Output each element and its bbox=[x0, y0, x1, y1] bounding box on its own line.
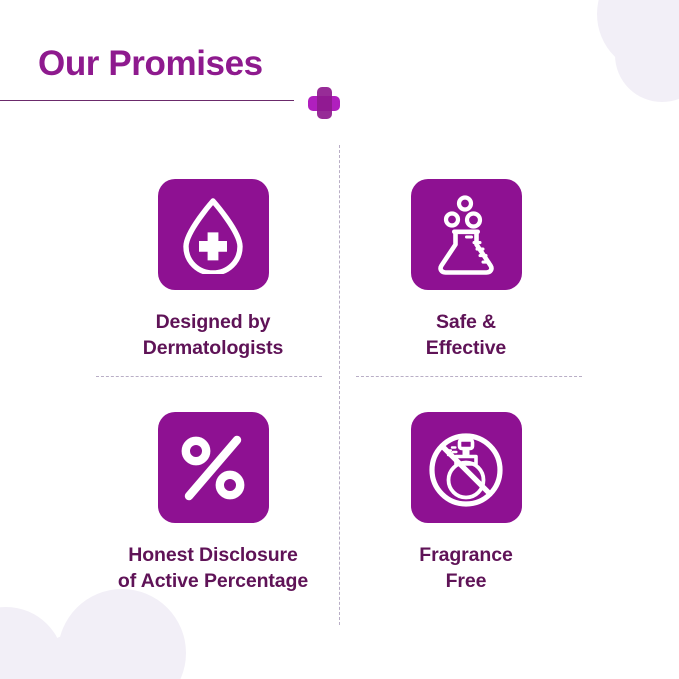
promises-grid: Designed by Dermatologists bbox=[0, 140, 679, 640]
promise-icon-tile bbox=[158, 412, 269, 523]
plus-icon-vertical-bar bbox=[317, 87, 332, 119]
promise-label: Fragrance Free bbox=[419, 543, 512, 594]
promise-label: Honest Disclosure of Active Percentage bbox=[118, 543, 308, 594]
page-title: Our Promises bbox=[38, 44, 263, 84]
promises-banner: Our Promises Designed by Dermatologists bbox=[0, 0, 679, 679]
promise-item-safe-and-effective: Safe & Effective bbox=[306, 179, 626, 361]
promise-icon-tile bbox=[158, 179, 269, 290]
promise-label: Safe & Effective bbox=[426, 310, 506, 361]
title-underline bbox=[0, 100, 294, 101]
promise-icon-tile bbox=[411, 412, 522, 523]
promise-icon-tile bbox=[411, 179, 522, 290]
divider-horizontal-right bbox=[356, 376, 582, 377]
droplet-plus-icon bbox=[176, 196, 250, 274]
promise-label: Designed by Dermatologists bbox=[143, 310, 284, 361]
no-perfume-icon bbox=[426, 428, 506, 508]
plus-icon bbox=[308, 87, 340, 119]
promise-item-fragrance-free: Fragrance Free bbox=[306, 412, 626, 594]
lab-flask-icon bbox=[429, 195, 503, 275]
percent-icon bbox=[180, 435, 246, 501]
divider-horizontal-left bbox=[96, 376, 322, 377]
